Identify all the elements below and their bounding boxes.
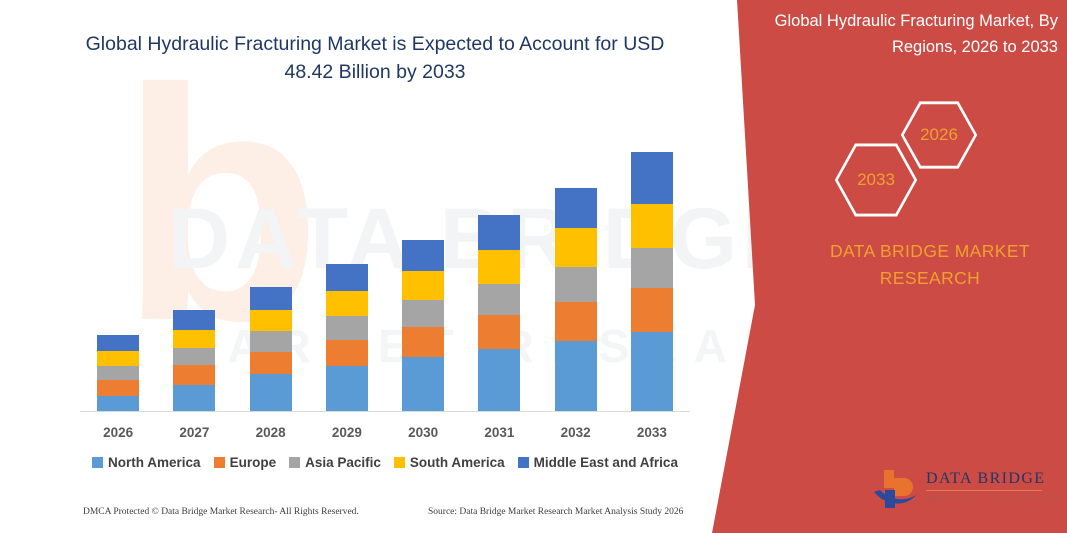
bar-segment[interactable] bbox=[478, 315, 520, 349]
legend-label: South America bbox=[410, 455, 505, 470]
bar-segment[interactable] bbox=[250, 331, 292, 351]
x-axis-label: 2026 bbox=[88, 425, 148, 440]
footer-copyright: DMCA Protected © Data Bridge Market Rese… bbox=[83, 507, 359, 517]
logo-subtitle: MARKET RESEARCH bbox=[927, 493, 1062, 503]
x-axis-line bbox=[80, 411, 690, 412]
infographic-root: b DATA BRIDGE MARKET RESEARCH Global Hyd… bbox=[0, 0, 1067, 533]
bar-segment[interactable] bbox=[555, 302, 597, 341]
legend-swatch bbox=[92, 457, 103, 468]
x-axis-labels: 20262027202820292030203120322033 bbox=[80, 421, 690, 445]
bar-segment[interactable] bbox=[631, 204, 673, 247]
bar-group[interactable] bbox=[555, 188, 597, 412]
bar-group[interactable] bbox=[173, 310, 215, 412]
x-axis-label: 2029 bbox=[317, 425, 377, 440]
bar-group[interactable] bbox=[631, 152, 673, 412]
x-axis-label: 2031 bbox=[469, 425, 529, 440]
x-axis-label: 2032 bbox=[546, 425, 606, 440]
bar-segment[interactable] bbox=[250, 374, 292, 412]
legend-label: Europe bbox=[230, 455, 277, 470]
bar-segment[interactable] bbox=[631, 288, 673, 332]
bar-segment[interactable] bbox=[173, 330, 215, 348]
legend-label: North America bbox=[108, 455, 201, 470]
bar-segment[interactable] bbox=[555, 341, 597, 412]
footer: DMCA Protected © Data Bridge Market Rese… bbox=[0, 505, 700, 525]
bar-group[interactable] bbox=[478, 215, 520, 412]
bar-segment[interactable] bbox=[326, 366, 368, 412]
logo-divider bbox=[926, 490, 1042, 491]
bar-segment[interactable] bbox=[402, 327, 444, 357]
hexagon-badge-start: 2026 bbox=[900, 100, 978, 170]
legend-label: Asia Pacific bbox=[305, 455, 381, 470]
bar-segment[interactable] bbox=[250, 310, 292, 331]
bar-group[interactable] bbox=[326, 264, 368, 412]
bar-group[interactable] bbox=[250, 287, 292, 412]
bar-segment[interactable] bbox=[326, 264, 368, 291]
legend-item[interactable]: South America bbox=[394, 455, 505, 470]
bar-segment[interactable] bbox=[478, 284, 520, 315]
bar-segment[interactable] bbox=[250, 287, 292, 310]
bar-segment[interactable] bbox=[97, 380, 139, 396]
chart-title: Global Hydraulic Fracturing Market is Ex… bbox=[60, 30, 690, 86]
bar-segment[interactable] bbox=[326, 291, 368, 316]
legend-item[interactable]: North America bbox=[92, 455, 201, 470]
x-axis-label: 2030 bbox=[393, 425, 453, 440]
bar-segment[interactable] bbox=[631, 152, 673, 204]
bar-segment[interactable] bbox=[173, 385, 215, 412]
bar-segment[interactable] bbox=[478, 349, 520, 412]
chart-panel: Global Hydraulic Fracturing Market is Ex… bbox=[0, 0, 760, 533]
brand-name: DATA BRIDGE MARKET RESEARCH bbox=[790, 238, 1067, 292]
legend-swatch bbox=[289, 457, 300, 468]
bar-segment[interactable] bbox=[402, 240, 444, 271]
bar-segment[interactable] bbox=[402, 300, 444, 327]
bar-segment[interactable] bbox=[97, 366, 139, 380]
bar-segment[interactable] bbox=[97, 396, 139, 412]
bar-chart-plot bbox=[80, 110, 690, 412]
logo-title: DATA BRIDGE bbox=[926, 470, 1045, 488]
bar-segment[interactable] bbox=[555, 267, 597, 302]
legend-swatch bbox=[518, 457, 529, 468]
bar-segment[interactable] bbox=[173, 348, 215, 365]
bar-segment[interactable] bbox=[555, 188, 597, 228]
bar-segment[interactable] bbox=[631, 332, 673, 412]
bar-segment[interactable] bbox=[250, 352, 292, 375]
hexagon-start-label: 2026 bbox=[920, 125, 958, 145]
bar-segment[interactable] bbox=[97, 335, 139, 352]
legend-swatch bbox=[394, 457, 405, 468]
bar-segment[interactable] bbox=[478, 215, 520, 250]
bar-group[interactable] bbox=[97, 335, 139, 412]
x-axis-label: 2033 bbox=[622, 425, 682, 440]
bar-segment[interactable] bbox=[326, 340, 368, 366]
branding-title: Global Hydraulic Fracturing Market, By R… bbox=[768, 8, 1058, 60]
bar-segment[interactable] bbox=[173, 365, 215, 384]
chart-legend: North AmericaEuropeAsia PacificSouth Ame… bbox=[80, 455, 690, 470]
footer-source: Source: Data Bridge Market Research Mark… bbox=[428, 507, 683, 517]
legend-label: Middle East and Africa bbox=[534, 455, 678, 470]
bar-segment[interactable] bbox=[555, 228, 597, 266]
bar-segment[interactable] bbox=[631, 248, 673, 288]
bar-segment[interactable] bbox=[478, 250, 520, 283]
bar-segment[interactable] bbox=[97, 351, 139, 366]
bar-group[interactable] bbox=[402, 240, 444, 412]
legend-item[interactable]: Asia Pacific bbox=[289, 455, 381, 470]
bar-segment[interactable] bbox=[402, 357, 444, 412]
legend-swatch bbox=[214, 457, 225, 468]
hexagon-end-label: 2033 bbox=[857, 170, 895, 190]
x-axis-label: 2028 bbox=[241, 425, 301, 440]
bar-segment[interactable] bbox=[402, 271, 444, 300]
bar-segment[interactable] bbox=[326, 316, 368, 340]
company-logo: DATA BRIDGE MARKET RESEARCH bbox=[872, 468, 1052, 512]
x-axis-label: 2027 bbox=[164, 425, 224, 440]
legend-item[interactable]: Europe bbox=[214, 455, 277, 470]
logo-mark-icon bbox=[872, 468, 918, 510]
bar-segment[interactable] bbox=[173, 310, 215, 330]
legend-item[interactable]: Middle East and Africa bbox=[518, 455, 678, 470]
